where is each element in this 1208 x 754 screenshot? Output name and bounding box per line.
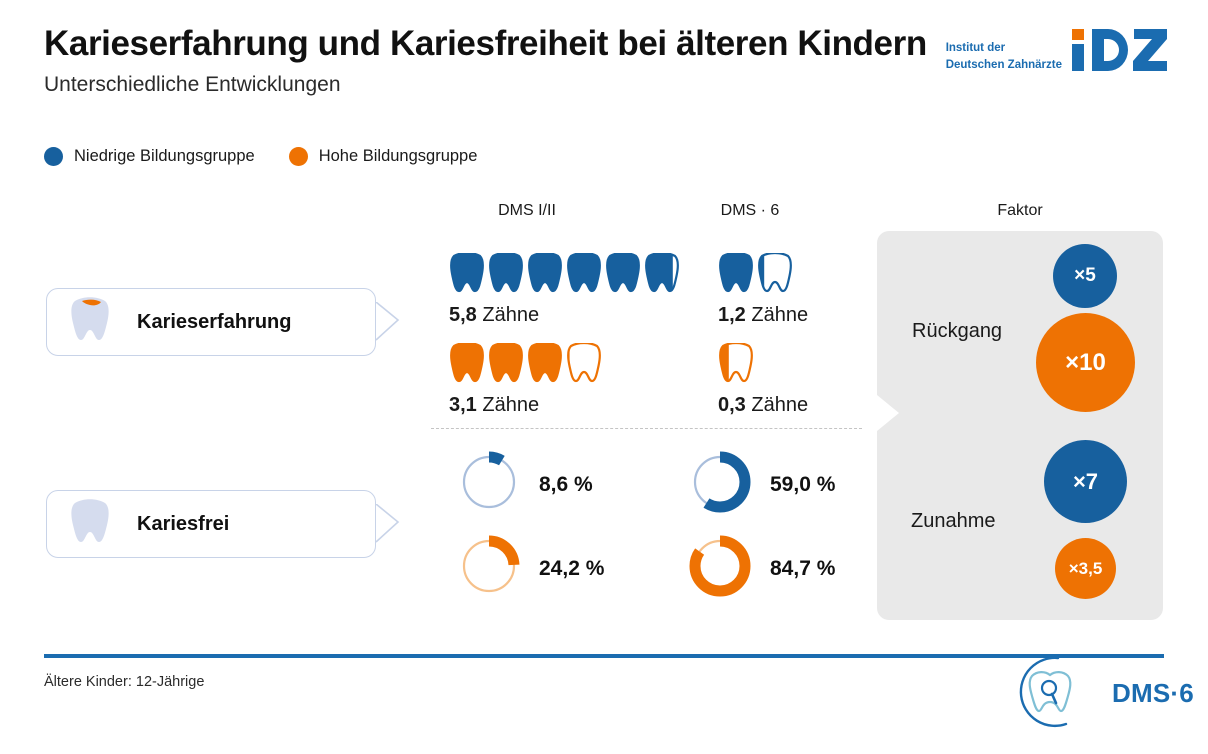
row-label-text-kariesfrei: Kariesfrei: [137, 513, 229, 536]
faktor-panel: [877, 231, 1163, 620]
donut-value-blue-dms6: 59,0 %: [770, 473, 835, 497]
donut-group-blue-dms6: 59,0 %: [686, 448, 835, 521]
teeth-value-blue-dms6: 1,2 Zähne: [718, 304, 808, 327]
donut-value-orange-dms12: 24,2 %: [539, 557, 604, 581]
factor-circle-orange-zunahme: ×3,5: [1055, 538, 1116, 599]
donut-chart: [686, 532, 754, 605]
tooth-icon: [488, 253, 524, 294]
teeth-unit: Zähne: [751, 394, 808, 416]
teeth-value-orange-dms12: 3,1 Zähne: [449, 394, 602, 417]
donut-group-orange-dms12: 24,2 %: [455, 532, 604, 605]
tooth-icon: [449, 343, 485, 384]
pill-arrow-icon-1: [376, 302, 402, 342]
teeth-number: 0,3: [718, 394, 746, 416]
teeth-group-blue-dms12: 5,8 Zähne: [449, 250, 680, 327]
teeth-unit: Zähne: [482, 394, 539, 416]
page-title: Karieserfahrung und Kariesfreiheit bei ä…: [44, 24, 927, 64]
idz-mark-icon: [1072, 27, 1168, 73]
tooth-icon: [566, 343, 602, 384]
tooth-icon: [757, 253, 793, 294]
donut-svg: [686, 448, 754, 516]
donut-group-blue-dms12: 8,6 %: [455, 448, 593, 521]
page-header: Karieserfahrung und Kariesfreiheit bei ä…: [44, 24, 927, 97]
factor-value: ×5: [1074, 265, 1096, 287]
tooth-icon: [605, 253, 641, 294]
legend-dot-blue: [44, 147, 63, 166]
factor-value: ×7: [1073, 469, 1098, 495]
teeth-group-orange-dms12: 3,1 Zähne: [449, 340, 602, 417]
idz-institute-line1: Institut der: [946, 40, 1062, 57]
tooth-icon: [718, 343, 754, 384]
teeth-group-orange-dms6: 0,3 Zähne: [718, 340, 808, 417]
teeth-number: 3,1: [449, 394, 477, 416]
teeth-number: 1,2: [718, 304, 746, 326]
idz-institute-name: Institut der Deutschen Zahnärzte: [946, 26, 1062, 73]
donut-svg: [686, 532, 754, 600]
legend-item-niedrige: Niedrige Bildungsgruppe: [44, 147, 255, 166]
dms6-logo-text: DMS·6: [1112, 678, 1194, 709]
factor-circle-blue-zunahme: ×7: [1044, 440, 1127, 523]
row-label-text-karieserfahrung: Karieserfahrung: [137, 311, 292, 334]
tooth-healthy-icon: [69, 499, 111, 550]
column-header-dms12: DMS I/II: [432, 202, 622, 220]
donut-group-orange-dms6: 84,7 %: [686, 532, 835, 605]
faktor-label-zunahme: Zunahme: [911, 510, 996, 533]
row-label-kariesfrei: Kariesfrei: [46, 490, 376, 558]
tooth-icon: [718, 253, 754, 294]
page-subtitle: Unterschiedliche Entwicklungen: [44, 73, 927, 97]
factor-value: ×3,5: [1069, 559, 1103, 579]
tooth-caries-icon: [69, 297, 111, 348]
donut-value-blue-dms12: 8,6 %: [539, 473, 593, 497]
donut-svg: [455, 532, 523, 600]
tooth-icon: [527, 253, 563, 294]
section-divider: [431, 428, 862, 429]
column-header-dms6: DMS · 6: [660, 202, 840, 220]
pill-arrow-icon-2: [376, 504, 402, 544]
column-header-faktor: Faktor: [930, 202, 1110, 220]
donut-chart: [686, 448, 754, 521]
footer-note: Ältere Kinder: 12-Jährige: [44, 674, 204, 690]
factor-circle-blue-rueckgang: ×5: [1053, 244, 1117, 308]
teeth-icons: [449, 340, 602, 384]
donut-track: [464, 457, 514, 507]
factor-value: ×10: [1065, 349, 1106, 377]
factor-circle-orange-rueckgang: ×10: [1036, 313, 1135, 412]
legend-item-hohe: Hohe Bildungsgruppe: [289, 147, 478, 166]
tooth-icon: [566, 253, 602, 294]
tooth-icon: [488, 343, 524, 384]
idz-logo: Institut der Deutschen Zahnärzte: [946, 26, 1168, 73]
teeth-unit: Zähne: [751, 304, 808, 326]
teeth-group-blue-dms6: 1,2 Zähne: [718, 250, 808, 327]
legend-dot-orange: [289, 147, 308, 166]
teeth-unit: Zähne: [482, 304, 539, 326]
tooth-icon: [527, 343, 563, 384]
idz-institute-line2: Deutschen Zahnärzte: [946, 57, 1062, 74]
dms6-logo: DMS·6: [1006, 650, 1176, 734]
footer-rule: [44, 654, 1164, 658]
donut-chart: [455, 448, 523, 521]
tooth-icon: [449, 253, 485, 294]
donut-value-orange-dms6: 84,7 %: [770, 557, 835, 581]
teeth-value-orange-dms6: 0,3 Zähne: [718, 394, 808, 417]
legend-label-hohe: Hohe Bildungsgruppe: [319, 147, 478, 166]
legend: Niedrige Bildungsgruppe Hohe Bildungsgru…: [44, 147, 477, 166]
faktor-label-rueckgang: Rückgang: [912, 320, 1002, 343]
teeth-icons: [718, 250, 808, 294]
teeth-number: 5,8: [449, 304, 477, 326]
teeth-value-blue-dms12: 5,8 Zähne: [449, 304, 680, 327]
teeth-icons: [449, 250, 680, 294]
teeth-icons: [718, 340, 808, 384]
row-label-karieserfahrung: Karieserfahrung: [46, 288, 376, 356]
legend-label-niedrige: Niedrige Bildungsgruppe: [74, 147, 255, 166]
donut-svg: [455, 448, 523, 516]
donut-chart: [455, 532, 523, 605]
tooth-icon: [644, 253, 680, 294]
